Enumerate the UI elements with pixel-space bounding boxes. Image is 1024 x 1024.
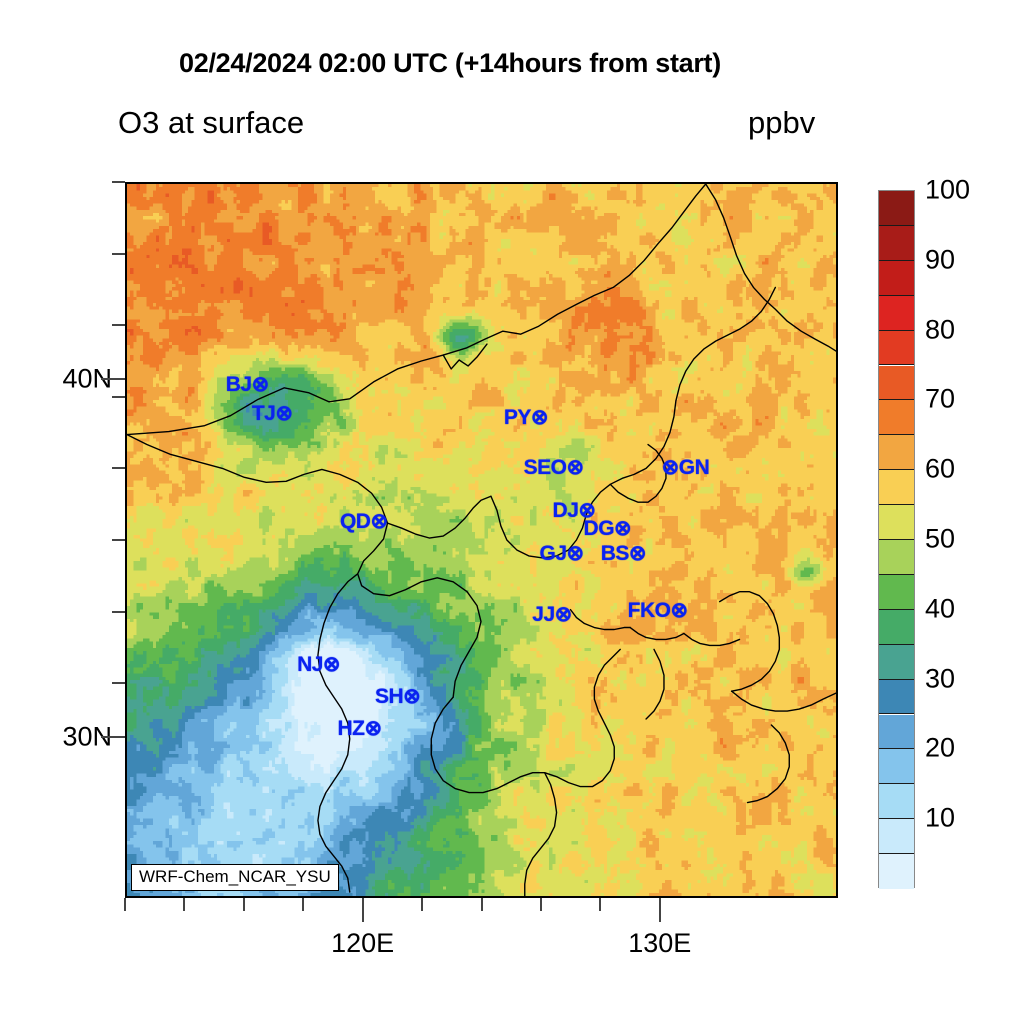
colorbar-tick-label: 100 (925, 175, 970, 206)
colorbar-band (879, 435, 914, 470)
colorbar-band (879, 749, 914, 784)
lat-tick-minor (112, 539, 125, 541)
colorbar-band (879, 226, 914, 261)
city-markers: BJ⊗TJ⊗QD⊗NJ⊗SH⊗HZ⊗PY⊗SEO⊗DJ⊗DG⊗GJ⊗BS⊗JJ⊗… (127, 184, 836, 896)
lat-tick-minor (112, 396, 125, 398)
colorbar-band (879, 470, 914, 505)
city-marker-qd: QD⊗ (340, 511, 388, 532)
lon-tick-major (659, 898, 661, 922)
colorbar-band (879, 819, 914, 854)
colorbar[interactable] (878, 190, 915, 888)
colorbar-band (879, 296, 914, 331)
lon-tick-label: 120E (331, 928, 394, 959)
city-marker-seo: SEO⊗ (524, 457, 584, 478)
variable-label: O3 at surface (118, 105, 304, 141)
city-marker-fko: FKO⊗ (628, 600, 688, 621)
lon-tick-major (362, 898, 364, 922)
units-label: ppbv (748, 105, 815, 141)
city-marker-nj: NJ⊗ (297, 654, 340, 675)
colorbar-tick-label: 20 (925, 733, 955, 764)
colorbar-band (879, 191, 914, 226)
colorbar-band (879, 575, 914, 610)
colorbar-tick-label: 10 (925, 803, 955, 834)
colorbar-band (879, 715, 914, 750)
city-marker-jj: JJ⊗ (532, 604, 571, 625)
map-plot-area[interactable]: BJ⊗TJ⊗QD⊗NJ⊗SH⊗HZ⊗PY⊗SEO⊗DJ⊗DG⊗GJ⊗BS⊗JJ⊗… (125, 182, 838, 898)
lat-tick-minor (112, 324, 125, 326)
lon-tick-minor (421, 898, 423, 911)
lat-tick-minor (112, 181, 125, 183)
lon-tick-minor (540, 898, 542, 911)
colorbar-band (879, 610, 914, 645)
colorbar-band (879, 366, 914, 401)
colorbar-band (879, 400, 914, 435)
lon-tick-minor (183, 898, 185, 911)
colorbar-band (879, 331, 914, 366)
city-marker-hz: HZ⊗ (338, 718, 382, 739)
lat-tick-minor (112, 611, 125, 613)
colorbar-tick-label: 40 (925, 593, 955, 624)
colorbar-tick-label: 70 (925, 384, 955, 415)
lon-tick-minor (599, 898, 601, 911)
city-marker-tj: TJ⊗ (252, 403, 293, 424)
colorbar-band (879, 854, 914, 889)
lon-tick-minor (124, 898, 126, 911)
city-marker-sh: SH⊗ (375, 686, 420, 707)
city-marker-dg: DG⊗ (584, 518, 632, 539)
lat-tick-minor (112, 682, 125, 684)
lat-tick-minor (112, 467, 125, 469)
colorbar-tick-label: 90 (925, 244, 955, 275)
lat-tick-major (101, 378, 125, 380)
city-marker-gn: ⊗GN (662, 457, 710, 478)
lon-tick-minor (481, 898, 483, 911)
colorbar-tick-label: 80 (925, 314, 955, 345)
lon-tick-label: 130E (628, 928, 691, 959)
model-tag: WRF-Chem_NCAR_YSU (131, 864, 339, 891)
lon-tick-minor (243, 898, 245, 911)
colorbar-band (879, 645, 914, 680)
city-marker-bs: BS⊗ (601, 543, 646, 564)
colorbar-band (879, 505, 914, 540)
colorbar-band (879, 261, 914, 296)
lat-tick-minor (112, 253, 125, 255)
city-marker-bj: BJ⊗ (226, 374, 269, 395)
city-marker-gj: GJ⊗ (540, 543, 584, 564)
colorbar-tick-label: 50 (925, 524, 955, 555)
colorbar-tick-label: 30 (925, 663, 955, 694)
page-title: 02/24/2024 02:00 UTC (+14hours from star… (0, 48, 900, 79)
colorbar-tick-label: 60 (925, 454, 955, 485)
city-marker-py: PY⊗ (504, 407, 548, 428)
colorbar-band (879, 680, 914, 715)
colorbar-band (879, 784, 914, 819)
lon-tick-minor (302, 898, 304, 911)
lat-tick-major (101, 736, 125, 738)
colorbar-band (879, 540, 914, 575)
